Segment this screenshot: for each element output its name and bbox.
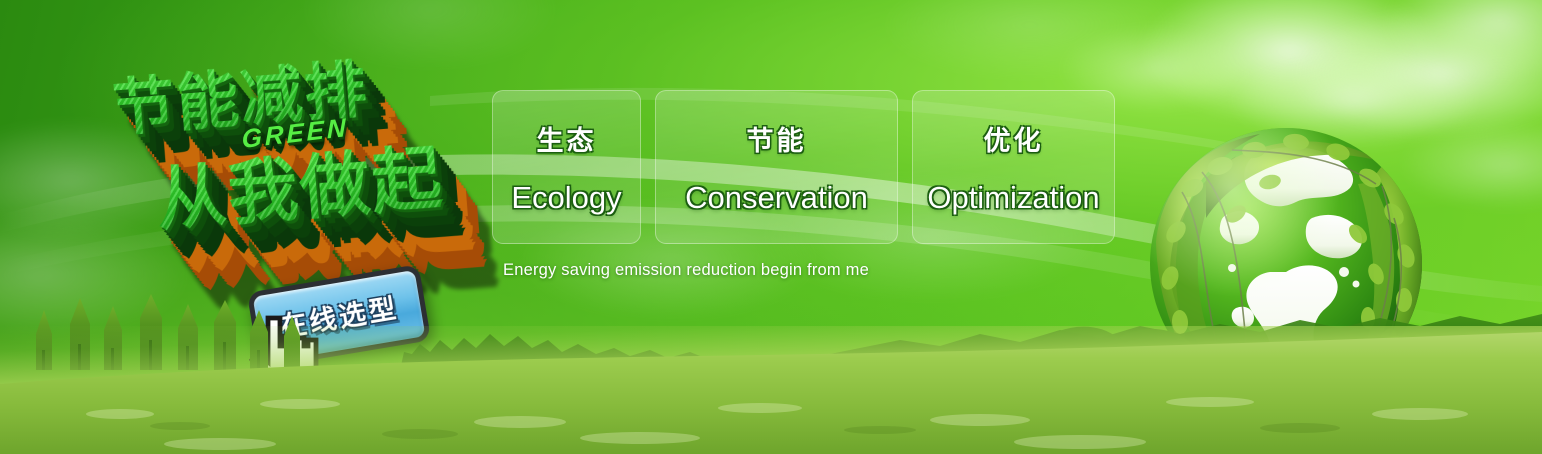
headline-line-2: 从我做起 [152, 122, 447, 245]
feature-card-en-label: Ecology [511, 180, 621, 216]
feature-card-cn-label: 生态 [537, 119, 597, 158]
feature-card-cn-label: 优化 [984, 119, 1044, 158]
feature-cards: 生态 Ecology 节能 Conservation 优化 Optimizati… [492, 90, 1115, 244]
feature-card-cn-label: 节能 [747, 119, 807, 158]
headline-3d-text: 节能减排 GREEN 从我做起 [87, 23, 504, 284]
feature-card-ecology[interactable]: 生态 Ecology [492, 90, 641, 244]
feature-card-optimization[interactable]: 优化 Optimization [912, 90, 1115, 244]
feature-card-conservation[interactable]: 节能 Conservation [655, 90, 898, 244]
feature-card-en-label: Optimization [927, 180, 1099, 216]
banner-subtitle: Energy saving emission reduction begin f… [503, 261, 869, 280]
feature-card-en-label: Conservation [685, 180, 868, 216]
green-energy-banner: 节能减排 GREEN 从我做起 在线选型 生态 Ecology 节能 Conse… [0, 0, 1542, 454]
